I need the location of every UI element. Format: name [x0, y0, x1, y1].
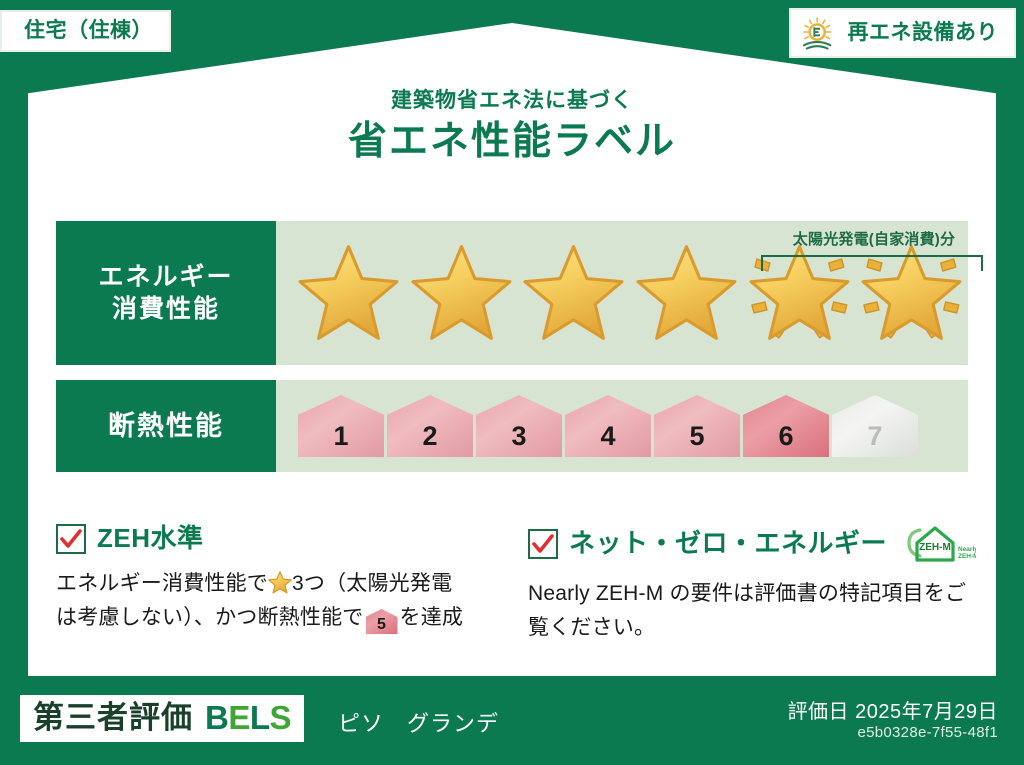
insulation-level-badge-inactive: 7 — [832, 395, 918, 457]
evaluation-id: e5b0328e-7f55-48f1 — [857, 724, 998, 741]
star-icon — [630, 233, 743, 353]
net-zero-energy-description: Nearly ZEH-M の要件は評価書の特記項目をご覧ください。 — [528, 577, 978, 645]
energy-stars-area: 太陽光発電(自家消費)分 — [276, 221, 968, 365]
bels-certification-badge: 第三者評価 BELS — [20, 695, 304, 742]
bels-letter-l: L — [250, 699, 270, 736]
bels-logo: BELS — [205, 700, 291, 736]
insulation-level-scale: 1 2 3 4 5 6 7 — [276, 380, 968, 472]
insulation-level-badge: 3 — [476, 395, 562, 457]
small-star-icon — [268, 571, 292, 594]
insulation-performance-row: 断熱性能 1 2 3 4 5 6 7 — [56, 380, 968, 472]
energy-performance-label: エネルギー 消費性能 — [56, 221, 276, 365]
evaluation-date: 評価日 2025年7月29日 — [788, 695, 998, 724]
zeh-desc-part4: を達成 — [400, 606, 464, 629]
label-subtitle: 建築物省エネ法に基づく — [0, 88, 1024, 113]
star-icon — [405, 233, 518, 353]
net-zero-energy-title: ネット・ゼロ・エネルギー — [569, 529, 887, 559]
star-icon-solar — [855, 233, 968, 353]
bels-letter-e: E — [228, 699, 250, 736]
insulation-level-badge: 5 — [654, 395, 740, 457]
insulation-level-badge: 1 — [298, 395, 384, 457]
energy-label-root: 住宅（住棟） 再エ — [0, 0, 1024, 765]
building-name: ピソ グランデ — [338, 706, 499, 738]
renewable-label: 再エネ設備あり — [848, 21, 999, 44]
evaluation-date-label: 評価日 — [788, 701, 850, 723]
solar-sun-icon — [801, 16, 839, 50]
net-zero-energy-block: ネット・ゼロ・エネルギー ZEH-M Nearly ZEH-M Nearly Z… — [528, 524, 978, 645]
renewable-equipment-badge: 再エネ設備あり — [789, 8, 1017, 58]
svg-text:ZEH-M: ZEH-M — [919, 542, 951, 553]
bels-letter-b: B — [205, 699, 228, 736]
dwelling-type-badge: 住宅（住棟） — [0, 10, 171, 52]
label-main-title: 省エネ性能ラベル — [0, 119, 1024, 166]
star-icon-solar — [743, 233, 856, 353]
bels-letter-s: S — [270, 699, 292, 736]
insulation-performance-label: 断熱性能 — [56, 380, 276, 472]
insulation-label-text: 断熱性能 — [108, 409, 224, 444]
svg-text:ZEH-M: ZEH-M — [958, 553, 976, 560]
zeh-desc-part1: エネルギー消費性能で — [56, 572, 268, 595]
zeh-standard-description: エネルギー消費性能で3つ（太陽光発電は考慮しない）、かつ断熱性能で5を達成 — [56, 567, 496, 635]
title-block: 建築物省エネ法に基づく 省エネ性能ラベル — [0, 88, 1024, 166]
solar-bracket — [761, 255, 983, 271]
dwelling-type-label: 住宅（住棟） — [24, 19, 153, 42]
zeh-standard-block: ZEH水準 エネルギー消費性能で3つ（太陽光発電は考慮しない）、かつ断熱性能で5… — [56, 524, 496, 635]
zeh-standard-title: ZEH水準 — [97, 524, 204, 554]
insulation-level-badge: 2 — [387, 395, 473, 457]
insulation-level-badge: 4 — [565, 395, 651, 457]
zeh-desc-part2: 3つ（太陽光発電 — [292, 572, 452, 595]
inline-insulation-level-badge: 5 — [366, 609, 398, 634]
zeh-standard-heading: ZEH水準 — [56, 524, 496, 554]
solar-caption: 太陽光発電(自家消費)分 — [728, 228, 1020, 249]
red-check-icon — [56, 524, 86, 554]
energy-performance-row: エネルギー 消費性能 太陽光発電(自家消費)分 — [56, 221, 968, 365]
star-icon — [517, 233, 630, 353]
insulation-badges-area: 1 2 3 4 5 6 7 — [276, 380, 968, 472]
zeh-m-logo-icon: ZEH-M Nearly ZEH-M — [898, 524, 976, 564]
net-zero-energy-heading: ネット・ゼロ・エネルギー ZEH-M Nearly ZEH-M — [528, 524, 978, 564]
star-icon — [292, 233, 405, 353]
energy-label-line1: エネルギー — [98, 261, 233, 293]
footer-bar: 第三者評価 BELS ピソ グランデ 評価日 2025年7月29日 e5b032… — [0, 676, 1024, 765]
svg-text:Nearly: Nearly — [958, 546, 976, 553]
red-check-icon — [528, 529, 558, 559]
zeh-desc-part3: は考慮しない）、かつ断熱性能で — [56, 606, 364, 629]
energy-label-line2: 消費性能 — [112, 293, 220, 325]
evaluation-date-value: 2025年7月29日 — [855, 701, 998, 723]
insulation-level-badge-current: 6 — [743, 395, 829, 457]
third-party-eval-label: 第三者評価 — [33, 701, 193, 735]
